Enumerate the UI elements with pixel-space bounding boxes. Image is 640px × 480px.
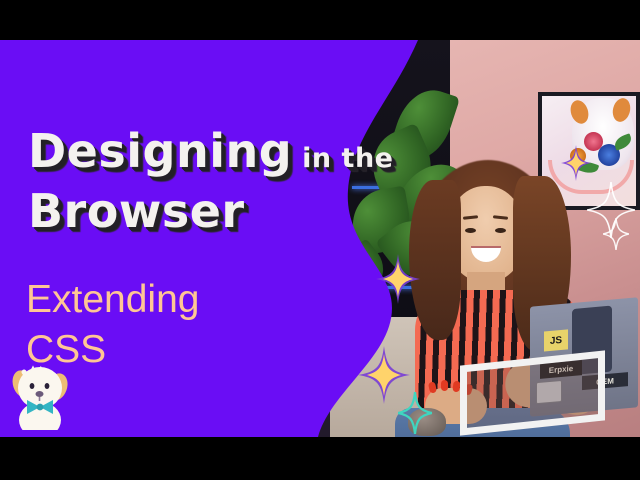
fingernail bbox=[441, 380, 448, 391]
dog-eye-right bbox=[45, 383, 50, 389]
smile bbox=[471, 246, 501, 262]
dog-mascot-logo bbox=[4, 358, 76, 430]
title-line-1: Designingin the bbox=[28, 128, 393, 174]
eyebrow-left bbox=[463, 215, 478, 220]
dog-bowtie-knot bbox=[37, 404, 44, 411]
dog-eye-left bbox=[30, 383, 35, 389]
title-word-browser: Browser bbox=[28, 188, 245, 234]
title-word-in-the: in the bbox=[302, 143, 393, 174]
js-sticker: JS bbox=[544, 329, 568, 351]
title-word-designing: Designing bbox=[28, 124, 292, 178]
subtitle-line-1: Extending bbox=[26, 280, 199, 319]
plush-toy bbox=[408, 408, 446, 436]
eye-right bbox=[495, 228, 506, 233]
eye-left bbox=[465, 228, 476, 233]
letterbox-bottom bbox=[0, 437, 640, 480]
video-frame: JS Erpxie CEM bbox=[0, 40, 640, 437]
eyebrow-right bbox=[493, 215, 508, 220]
letterbox-top bbox=[0, 0, 640, 40]
video-thumbnail: JS Erpxie CEM bbox=[0, 0, 640, 480]
dog-nose bbox=[36, 391, 44, 397]
